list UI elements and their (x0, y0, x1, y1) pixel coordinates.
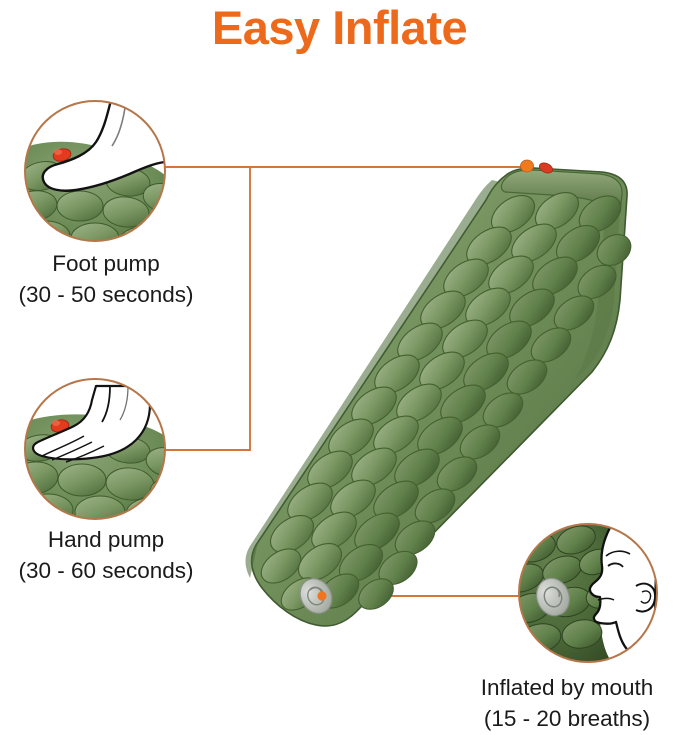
infographic-canvas: Easy Inflate (0, 0, 679, 735)
callout-hand-pump[interactable] (8, 379, 190, 530)
orange-valve-cap (521, 160, 534, 172)
caption-mouth-line1: Inflated by mouth (481, 675, 654, 700)
caption-foot-pump-line1: Foot pump (52, 251, 160, 276)
caption-hand-pump-line2: (30 - 60 seconds) (0, 555, 212, 586)
caption-mouth-line2: (15 - 20 breaths) (455, 703, 679, 734)
caption-hand-pump-line1: Hand pump (48, 527, 164, 552)
connector-dot-bottom (317, 591, 326, 600)
infographic-graphics (0, 0, 679, 735)
caption-foot-pump-line2: (30 - 50 seconds) (0, 279, 212, 310)
callout-inflated-by-mouth[interactable] (501, 521, 657, 662)
caption-hand-pump: Hand pump (30 - 60 seconds) (0, 524, 212, 586)
caption-foot-pump: Foot pump (30 - 50 seconds) (0, 248, 212, 310)
caption-inflated-by-mouth: Inflated by mouth (15 - 20 breaths) (455, 672, 679, 734)
callout-foot-pump[interactable] (9, 96, 189, 257)
